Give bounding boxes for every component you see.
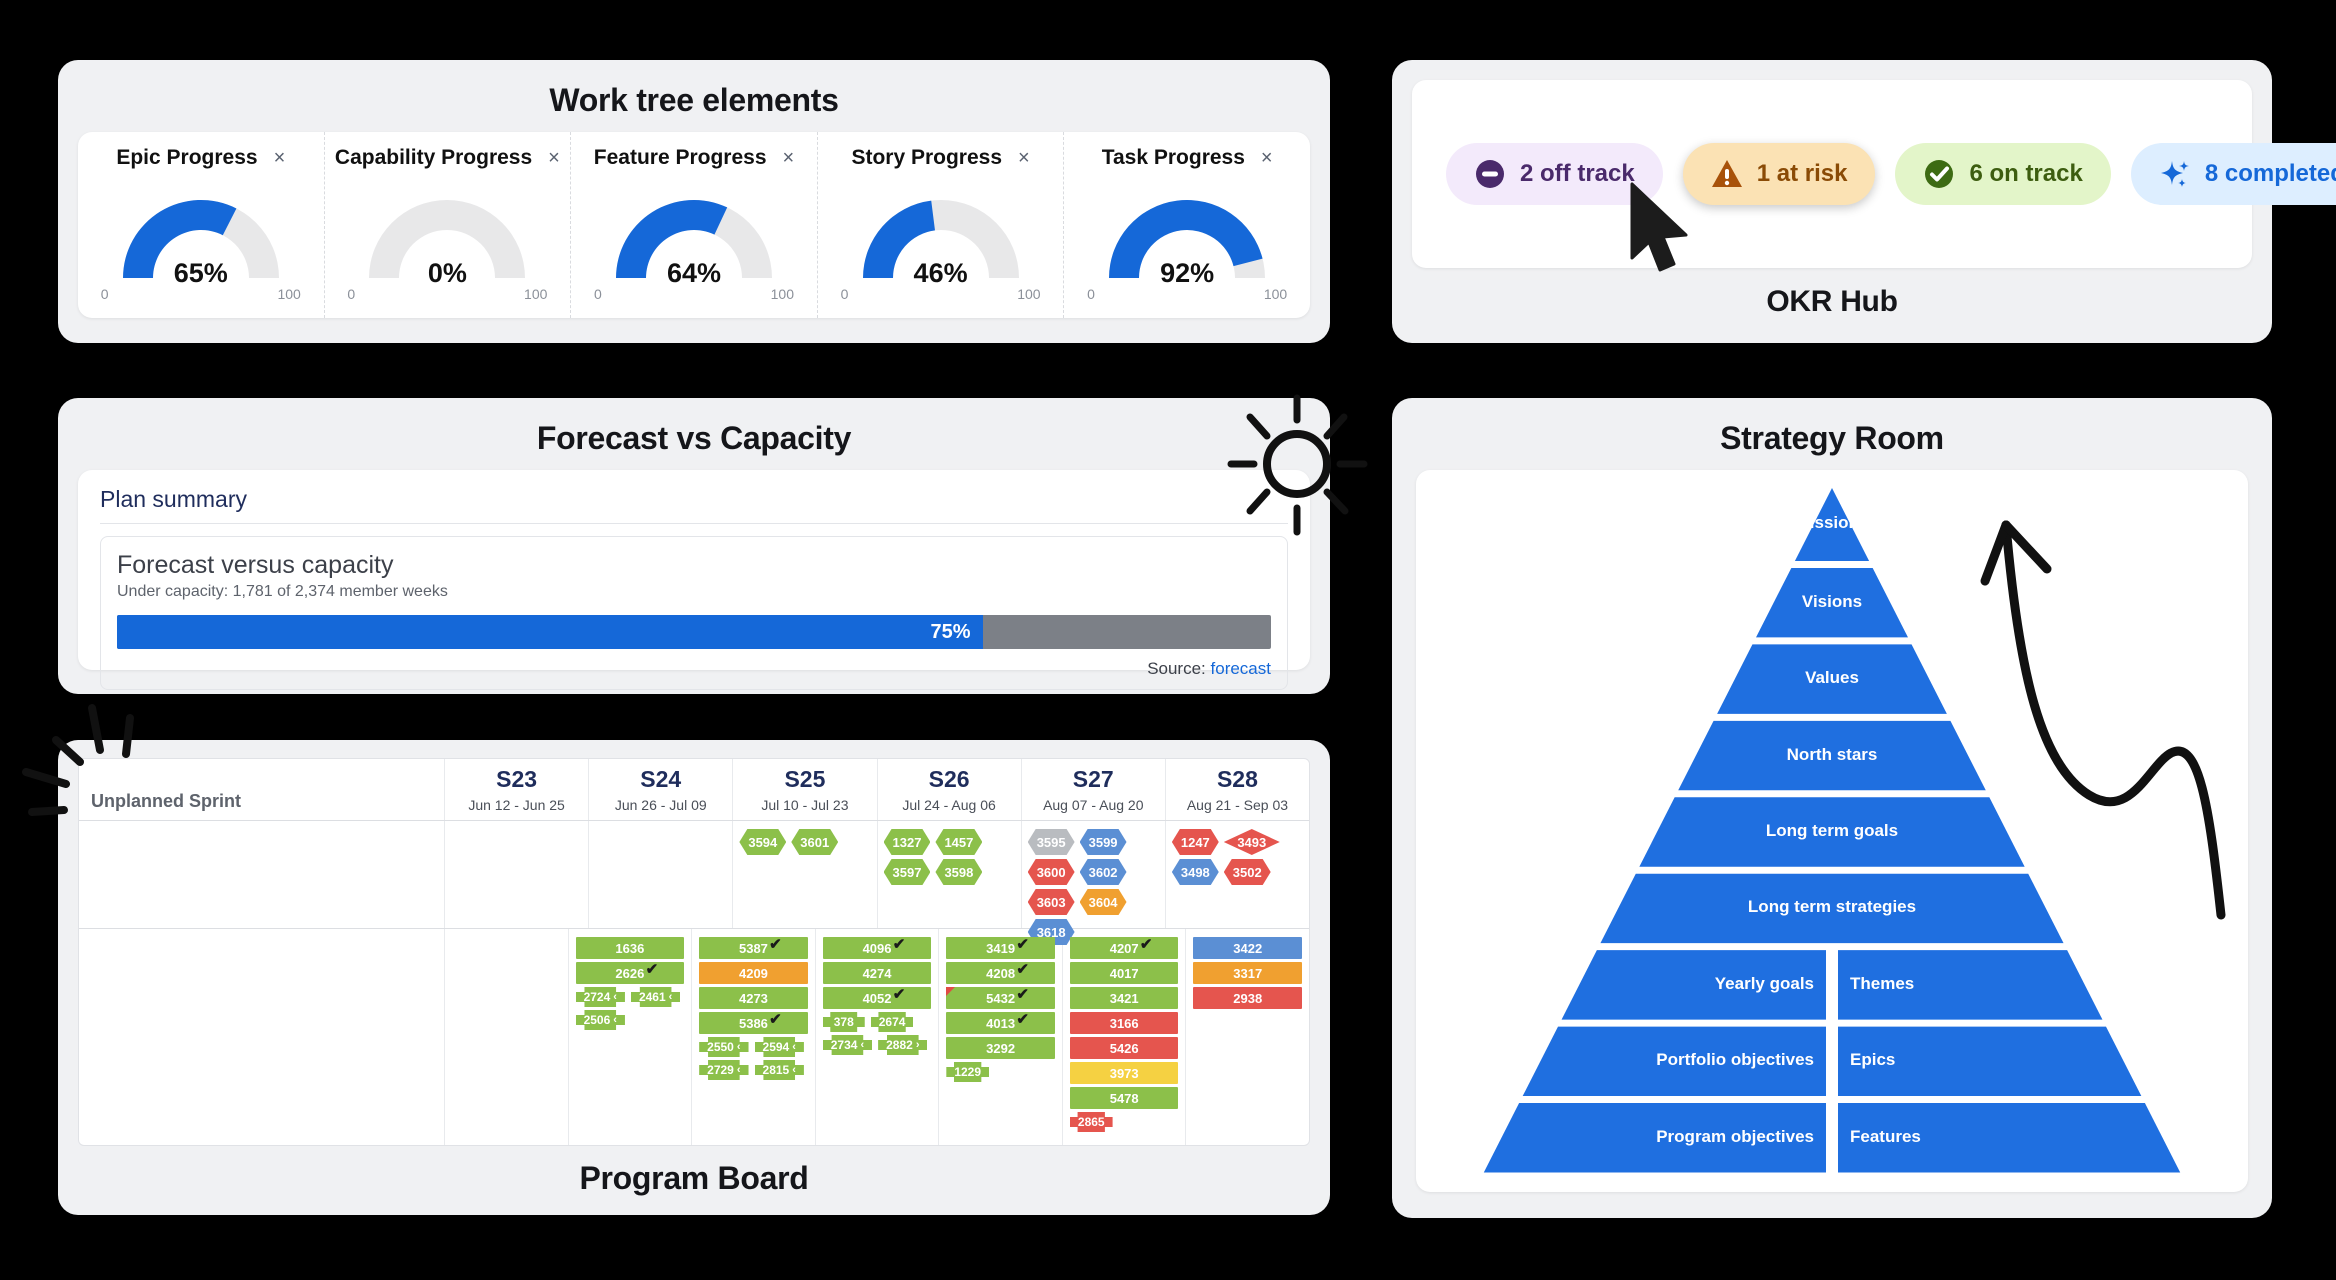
gauge-value: 0% (347, 258, 547, 289)
milestone-badge[interactable]: 3598 (935, 859, 982, 885)
work-item-id: 3292 (986, 1041, 1015, 1056)
milestone-cell: 1247349334983502 (1166, 821, 1309, 928)
dependency-id: 2674 (879, 1015, 906, 1029)
forecast-heading: Forecast versus capacity (117, 551, 1271, 580)
gauge-scale: 0100 (1087, 286, 1287, 302)
sprint-name: S23 (496, 766, 537, 793)
check-circle-icon (1923, 158, 1955, 190)
dependency-row: 2506‹ (576, 1010, 685, 1030)
pyramid-level[interactable] (1639, 797, 2024, 866)
plan-summary-label: Plan summary (100, 486, 1288, 524)
corner-flag-icon (946, 987, 955, 996)
milestone-cell: 3595359936003602360336043618 (1022, 821, 1166, 928)
gauge-dial: 65%0100 (101, 182, 301, 294)
work-item-card[interactable]: 3421 (1070, 987, 1179, 1009)
check-icon: ✔ (893, 935, 906, 953)
chevron-icon: ‹ (737, 1064, 741, 1076)
pyramid-level[interactable] (1756, 568, 1908, 637)
sprint-header-cell[interactable]: S27Aug 07 - Aug 20 (1022, 759, 1166, 820)
forecast-versus-capacity-box: Forecast versus capacity Under capacity:… (100, 536, 1288, 690)
close-icon[interactable]: × (548, 148, 560, 168)
chevron-icon: ‹ (860, 1039, 864, 1051)
work-item-card[interactable]: 5426 (1070, 1037, 1179, 1059)
work-item-card[interactable]: 4207✔ (1070, 937, 1179, 959)
gauge-header: Capability Progress× (335, 146, 560, 170)
dependency-id: 2506 (584, 1013, 611, 1027)
check-icon: ✔ (1016, 935, 1029, 953)
work-item-id: 4017 (1110, 966, 1139, 981)
okr-status-pill[interactable]: 8 completed (2131, 143, 2336, 205)
okr-hub-panel: 2 off track1 at risk6 on track8 complete… (1392, 60, 2272, 343)
gauge-value: 64% (594, 258, 794, 289)
body-first-cell (79, 929, 445, 1145)
work-item-card[interactable]: 3973 (1070, 1062, 1179, 1084)
sprint-header-cell[interactable]: S26Jul 24 - Aug 06 (878, 759, 1022, 820)
pyramid-level[interactable] (1795, 488, 1869, 561)
milestone-badge[interactable]: 1327 (884, 829, 931, 855)
sprint-dates: Aug 07 - Aug 20 (1043, 797, 1143, 813)
work-item-card[interactable]: 3419✔ (946, 937, 1055, 959)
milestone-badge[interactable]: 3604 (1080, 889, 1127, 915)
dependency-id: 2550 (707, 1040, 734, 1054)
work-item-card[interactable]: 2626✔ (576, 962, 685, 984)
work-item-id: 4013 (986, 1016, 1015, 1031)
work-item-card[interactable]: 4017 (1070, 962, 1179, 984)
forecast-progress-label: 75% (930, 621, 970, 644)
gauge-label: Capability Progress (335, 146, 532, 170)
sprint-column: 3419✔4208✔5432✔4013✔32921229 (939, 929, 1063, 1145)
gauge-value: 92% (1087, 258, 1287, 289)
program-board-milestone-row: 3594360113271457359735983595359936003602… (79, 821, 1309, 929)
warning-triangle-icon (1711, 158, 1743, 190)
sparkles-icon (2159, 158, 2191, 190)
forecast-title: Forecast vs Capacity (58, 398, 1330, 457)
program-board-table: Unplanned Sprint S23Jun 12 - Jun 25S24Ju… (78, 758, 1310, 1146)
work-item-id: 4274 (863, 966, 892, 981)
milestone-cell (445, 821, 589, 928)
dependency-id: 2729 (707, 1063, 734, 1077)
work-item-id: 4208 (986, 966, 1015, 981)
okr-hub-title: OKR Hub (1392, 285, 2272, 319)
work-tree-title: Work tree elements (58, 60, 1330, 119)
dependency-row: 2724‹2461‹ (576, 987, 685, 1007)
gauge-header: Story Progress× (851, 146, 1029, 170)
dependency-card[interactable]: 2550‹ (699, 1037, 748, 1057)
gauge-label: Task Progress (1102, 146, 1245, 170)
sprint-name: S27 (1073, 766, 1114, 793)
pyramid-level-left[interactable] (1523, 1027, 1826, 1096)
minus-circle-icon (1474, 158, 1506, 190)
sprint-header-cell[interactable]: S24Jun 26 - Jul 09 (589, 759, 733, 820)
sprint-header-cell[interactable]: S23Jun 12 - Jun 25 (445, 759, 589, 820)
okr-status-pill[interactable]: 1 at risk (1683, 143, 1876, 205)
work-item-card[interactable]: 4208✔ (946, 962, 1055, 984)
work-item-id: 5387 (739, 941, 768, 956)
sprint-dates: Jul 10 - Jul 23 (761, 797, 848, 813)
work-item-id: 3973 (1110, 1066, 1139, 1081)
program-board-body-row: 16362626✔2724‹2461‹2506‹5387✔42094273538… (79, 929, 1309, 1145)
okr-status-pill-label: 6 on track (1969, 160, 2082, 188)
gauge-dial: 92%0100 (1087, 182, 1287, 294)
sprint-name: S25 (784, 766, 825, 793)
close-icon[interactable]: × (1018, 148, 1030, 168)
work-item-card[interactable]: 5432✔ (946, 987, 1055, 1009)
sprint-column: 4207✔4017342131665426397354782865 (1063, 929, 1187, 1145)
gauge-label: Feature Progress (594, 146, 767, 170)
sprint-dates: Jun 26 - Jul 09 (615, 797, 707, 813)
chevron-icon: ‹ (613, 991, 617, 1003)
milestone-badge[interactable]: 3600 (1028, 859, 1075, 885)
milestone-badge[interactable]: 3595 (1028, 829, 1075, 855)
work-item-id: 3166 (1110, 1016, 1139, 1031)
strategy-room-card: MissionsVisionsValuesNorth starsLong ter… (1416, 470, 2248, 1192)
work-item-card[interactable]: 4274 (823, 962, 932, 984)
sparkle-burst-doodle (22, 700, 182, 830)
dependency-card[interactable]: 2815‹ (755, 1060, 804, 1080)
dependency-row: 2734‹2882› (823, 1035, 932, 1055)
work-item-id: 5386 (739, 1016, 768, 1031)
work-item-id: 3317 (1233, 966, 1262, 981)
pyramid-level-right[interactable] (1838, 1027, 2141, 1096)
gauge-header: Task Progress× (1102, 146, 1273, 170)
work-tree-elements-panel: Work tree elements Epic Progress×65%0100… (58, 60, 1330, 343)
sprint-dates: Aug 21 - Sep 03 (1187, 797, 1288, 813)
milestone-badge[interactable]: 3603 (1028, 889, 1075, 915)
dependency-id: 378 (834, 1015, 854, 1029)
chevron-icon: ‹ (792, 1041, 796, 1053)
pyramid-level-left[interactable] (1562, 950, 1826, 1019)
gauge-scale: 0100 (594, 286, 794, 302)
work-item-id: 5478 (1110, 1091, 1139, 1106)
sprint-column: 342233172938 (1186, 929, 1309, 1145)
sprint-column (445, 929, 569, 1145)
work-item-card[interactable]: 4052✔ (823, 987, 932, 1009)
dependency-card[interactable]: 378 (823, 1012, 865, 1032)
work-item-id: 4052 (863, 991, 892, 1006)
work-item-card[interactable]: 3317 (1193, 962, 1302, 984)
dependency-card[interactable]: 2882› (878, 1035, 927, 1055)
gauge-scale-min: 0 (347, 286, 355, 302)
work-item-id: 3421 (1110, 991, 1139, 1006)
forecast-subtext: Under capacity: 1,781 of 2,374 member we… (117, 583, 1271, 601)
dependency-card[interactable]: 2674 (871, 1012, 914, 1032)
pyramid-level-left[interactable] (1484, 1103, 1826, 1172)
sprint-column: 4096✔42744052✔37826742734‹2882› (816, 929, 940, 1145)
forecast-progress-bar: 75% (117, 615, 1271, 649)
chevron-icon: ‹ (792, 1064, 796, 1076)
dependency-card[interactable]: 2724‹ (576, 987, 625, 1007)
chevron-icon: ‹ (613, 1014, 617, 1026)
sun-doodle (1222, 392, 1372, 542)
work-item-card[interactable]: 3292 (946, 1037, 1055, 1059)
gauge-scale-min: 0 (841, 286, 849, 302)
dependency-id: 1229 (954, 1065, 981, 1079)
work-item-card[interactable]: 5386✔ (699, 1012, 808, 1034)
gauge-scale: 0100 (841, 286, 1041, 302)
source-prefix-label: Source: (1147, 659, 1206, 678)
gauge-cell: Story Progress×46%0100 (817, 132, 1064, 318)
program-board-header-row: Unplanned Sprint S23Jun 12 - Jun 25S24Ju… (79, 759, 1309, 821)
sprint-name: S24 (640, 766, 681, 793)
okr-status-pill[interactable]: 6 on track (1895, 143, 2110, 205)
milestone-badge[interactable]: 3602 (1080, 859, 1127, 885)
gauge-scale-min: 0 (1087, 286, 1095, 302)
dependency-id: 2865 (1078, 1115, 1105, 1129)
sprint-column: 16362626✔2724‹2461‹2506‹ (569, 929, 693, 1145)
chevron-icon: › (916, 1039, 920, 1051)
dependency-id: 2882 (886, 1038, 913, 1052)
milestone-badge[interactable]: 3493 (1224, 829, 1280, 855)
dependency-row: 3782674 (823, 1012, 932, 1032)
work-item-card[interactable]: 4013✔ (946, 1012, 1055, 1034)
pyramid-level-right[interactable] (1838, 1103, 2180, 1172)
okr-status-pill-row: 2 off track1 at risk6 on track8 complete… (1412, 80, 2252, 268)
gauge-value: 65% (101, 258, 301, 289)
work-item-id: 5426 (1110, 1041, 1139, 1056)
milestone-badge[interactable]: 3502 (1224, 859, 1271, 885)
work-item-id: 4207 (1110, 941, 1139, 956)
check-icon: ✔ (1140, 935, 1153, 953)
milestone-cell: 35943601 (733, 821, 877, 928)
work-item-card[interactable]: 2938 (1193, 987, 1302, 1009)
gauge-scale-max: 100 (277, 286, 300, 302)
gauge-value: 46% (841, 258, 1041, 289)
source-link[interactable]: forecast (1211, 659, 1271, 678)
gauge-scale-max: 100 (1264, 286, 1287, 302)
sprint-header-cell[interactable]: S25Jul 10 - Jul 23 (733, 759, 877, 820)
milestone-badge[interactable]: 3599 (1080, 829, 1127, 855)
gauge-scale-max: 100 (524, 286, 547, 302)
work-item-card[interactable]: 1636 (576, 937, 685, 959)
chevron-icon: ‹ (669, 991, 673, 1003)
gauge-scale-max: 100 (771, 286, 794, 302)
gauge-row: Epic Progress×65%0100Capability Progress… (78, 132, 1310, 318)
forecast-progress-fill: 75% (117, 615, 983, 649)
gauge-dial: 0%0100 (347, 182, 547, 294)
dependency-row: 1229 (946, 1062, 1055, 1082)
sprint-dates: Jun 12 - Jun 25 (468, 797, 565, 813)
work-item-id: 1636 (615, 941, 644, 956)
forecast-card: Plan summary Forecast versus capacity Un… (78, 470, 1310, 670)
gauge-scale-min: 0 (101, 286, 109, 302)
check-icon: ✔ (646, 960, 659, 978)
work-item-id: 2938 (1233, 991, 1262, 1006)
dependency-id: 2594 (763, 1040, 790, 1054)
pyramid-level-right[interactable] (1838, 950, 2102, 1019)
milestone-badge[interactable]: 3594 (739, 829, 786, 855)
dependency-id: 2461 (639, 990, 666, 1004)
work-item-card[interactable]: 3422 (1193, 937, 1302, 959)
work-item-id: 4273 (739, 991, 768, 1006)
pyramid-level[interactable] (1678, 721, 1986, 790)
sprint-header-cell[interactable]: S28Aug 21 - Sep 03 (1166, 759, 1309, 820)
close-icon[interactable]: × (274, 148, 286, 168)
gauge-dial: 64%0100 (594, 182, 794, 294)
dependency-card[interactable]: 2865 (1070, 1112, 1113, 1132)
close-icon[interactable]: × (1261, 148, 1273, 168)
sprint-column: 5387✔420942735386✔2550‹2594‹2729‹2815‹ (692, 929, 816, 1145)
gauge-header: Feature Progress× (594, 146, 794, 170)
check-icon: ✔ (769, 1010, 782, 1028)
milestone-badge[interactable]: 3597 (884, 859, 931, 885)
okr-status-pill-label: 2 off track (1520, 160, 1635, 188)
curved-arrow-doodle (1971, 495, 2248, 955)
gauge-header: Epic Progress× (116, 146, 285, 170)
work-item-card[interactable]: 4209 (699, 962, 808, 984)
gauge-cell: Task Progress×92%0100 (1063, 132, 1310, 318)
check-icon: ✔ (893, 985, 906, 1003)
gauge-cell: Epic Progress×65%0100 (78, 132, 324, 318)
dependency-card[interactable]: 2734‹ (823, 1035, 872, 1055)
gauge-label: Epic Progress (116, 146, 257, 170)
dashboard-canvas: Work tree elements Epic Progress×65%0100… (0, 0, 2336, 1280)
strategy-room-panel: Strategy Room MissionsVisionsValuesNorth… (1392, 398, 2272, 1218)
work-item-card[interactable]: 4273 (699, 987, 808, 1009)
program-board-panel: Unplanned Sprint S23Jun 12 - Jun 25S24Ju… (58, 740, 1330, 1215)
work-item-id: 4096 (863, 941, 892, 956)
gauge-scale: 0100 (101, 286, 301, 302)
gauge-dial: 46%0100 (841, 182, 1041, 294)
work-item-id: 3422 (1233, 941, 1262, 956)
work-item-card[interactable]: 3166 (1070, 1012, 1179, 1034)
gauge-cell: Feature Progress×64%0100 (570, 132, 817, 318)
dependency-row: 2729‹2815‹ (699, 1060, 808, 1080)
check-icon: ✔ (1016, 985, 1029, 1003)
milestone-badge[interactable]: 1247 (1172, 829, 1219, 855)
gauge-scale: 0100 (347, 286, 547, 302)
check-icon: ✔ (1016, 960, 1029, 978)
dependency-card[interactable]: 2461‹ (631, 987, 680, 1007)
forecast-vs-capacity-panel: Forecast vs Capacity Plan summary Foreca… (58, 398, 1330, 694)
dependency-id: 2724 (584, 990, 611, 1004)
dependency-card[interactable]: 2594‹ (755, 1037, 804, 1057)
milestone-badge[interactable]: 3498 (1172, 859, 1219, 885)
work-item-card[interactable]: 4096✔ (823, 937, 932, 959)
dependency-card[interactable]: 2506‹ (576, 1010, 625, 1030)
work-item-id: 3419 (986, 941, 1015, 956)
chevron-icon: ‹ (737, 1041, 741, 1053)
milestone-badge[interactable]: 1457 (935, 829, 982, 855)
gauge-scale-min: 0 (594, 286, 602, 302)
sprint-dates: Jul 24 - Aug 06 (902, 797, 995, 813)
dependency-id: 2815 (763, 1063, 790, 1077)
sprint-name: S26 (929, 766, 970, 793)
program-board-title: Program Board (58, 1160, 1330, 1197)
dependency-card[interactable]: 2729‹ (699, 1060, 748, 1080)
milestone-first-cell (79, 821, 445, 928)
okr-status-pill-label: 1 at risk (1757, 160, 1848, 188)
gauge-cell: Capability Progress×0%0100 (324, 132, 571, 318)
work-item-card[interactable]: 5478 (1070, 1087, 1179, 1109)
milestone-cell (589, 821, 733, 928)
gauge-label: Story Progress (851, 146, 1002, 170)
mouse-cursor (1628, 182, 1698, 282)
work-item-id: 4209 (739, 966, 768, 981)
pyramid-level[interactable] (1717, 644, 1947, 713)
work-item-id: 2626 (615, 966, 644, 981)
check-icon: ✔ (769, 935, 782, 953)
dependency-card[interactable]: 1229 (946, 1062, 989, 1082)
gauge-scale-max: 100 (1017, 286, 1040, 302)
sprint-name: S28 (1217, 766, 1258, 793)
dependency-id: 2734 (831, 1038, 858, 1052)
milestone-badge[interactable]: 3601 (791, 829, 838, 855)
forecast-source: Source: forecast (117, 659, 1271, 679)
dependency-row: 2865 (1070, 1112, 1179, 1132)
milestone-cell: 1327145735973598 (878, 821, 1022, 928)
strategy-room-title: Strategy Room (1392, 398, 2272, 457)
dependency-row: 2550‹2594‹ (699, 1037, 808, 1057)
okr-status-pill-label: 8 completed (2205, 160, 2336, 188)
close-icon[interactable]: × (783, 148, 795, 168)
work-item-id: 5432 (986, 991, 1015, 1006)
check-icon: ✔ (1016, 1010, 1029, 1028)
work-item-card[interactable]: 5387✔ (699, 937, 808, 959)
